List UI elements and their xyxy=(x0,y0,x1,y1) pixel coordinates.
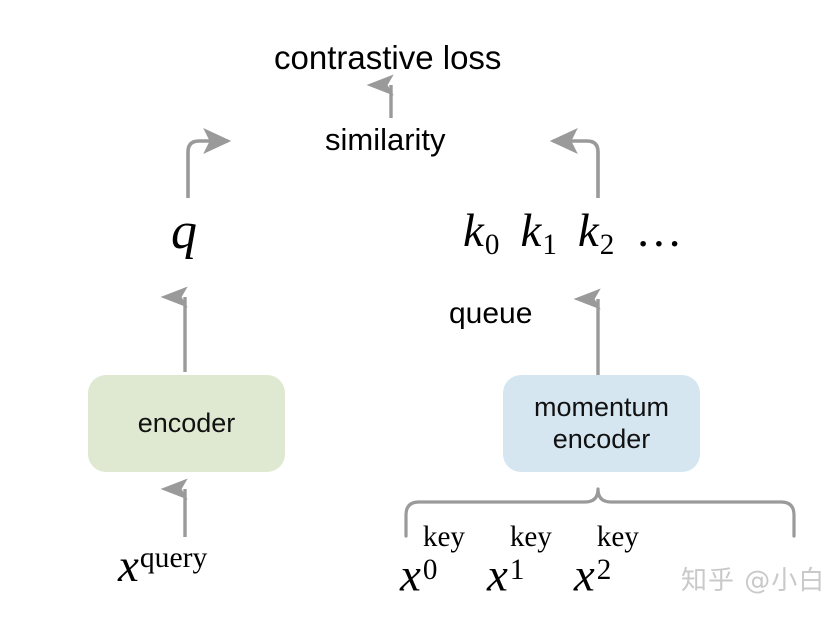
x-key-superscript-2: key xyxy=(597,524,639,552)
key-subscript-2: 2 xyxy=(600,229,615,261)
queue-label: queue xyxy=(449,299,532,329)
x-key-subscript-1: 1 xyxy=(510,557,552,585)
arrow-q-to-similarity xyxy=(188,141,228,198)
momentum-encoder-box-label-line1: momentum xyxy=(534,392,669,422)
arrow-keys-to-similarity xyxy=(553,141,598,198)
key-subscript-1: 1 xyxy=(542,229,557,261)
key-base-1: k xyxy=(520,205,541,257)
encoder-box-label: encoder xyxy=(138,408,236,440)
key-embedding-1: k1 xyxy=(520,206,556,260)
key-embeddings-ellipsis: … xyxy=(635,208,684,255)
x-key-base-1: x xyxy=(487,550,508,602)
similarity-label: similarity xyxy=(325,124,446,155)
x-key-scripts-1: key1 xyxy=(510,540,552,595)
x-key-symbol-2: xkey2 xyxy=(574,541,639,600)
x-key-base-0: x xyxy=(400,550,421,602)
x-query-base: x xyxy=(118,540,139,592)
key-embedding-2: k2 xyxy=(578,206,614,260)
x-key-superscript-0: key xyxy=(423,524,465,552)
x-key-superscript-1: key xyxy=(510,524,552,552)
momentum-encoder-box-label-wrapper: momentum encoder xyxy=(534,392,669,456)
contrastive-loss-label: contrastive loss xyxy=(274,41,501,74)
x-key-subscript-0: 0 xyxy=(423,557,465,585)
momentum-encoder-box[interactable]: momentum encoder xyxy=(503,375,700,472)
x-key-symbols-row: xkey0 xkey1 xkey2 xyxy=(400,541,639,600)
diagram-vector-layer xyxy=(0,0,826,634)
figure-canvas: contrastive loss similarity queue q k0 k… xyxy=(0,0,826,634)
x-key-symbol-0: xkey0 xyxy=(400,541,465,600)
key-base-2: k xyxy=(578,205,599,257)
query-embedding-symbol: q xyxy=(171,206,197,258)
key-base-0: k xyxy=(463,205,484,257)
x-key-symbol-1: xkey1 xyxy=(487,541,552,600)
key-embeddings-row: k0 k1 k2 … xyxy=(463,206,684,260)
x-key-scripts-2: key2 xyxy=(597,540,639,595)
x-query-superscript: query xyxy=(140,542,207,574)
x-key-subscript-2: 2 xyxy=(597,557,639,585)
x-key-base-2: x xyxy=(574,550,595,602)
watermark-text: 知乎 @小白 xyxy=(681,560,825,597)
x-key-scripts-0: key0 xyxy=(423,540,465,595)
key-subscript-0: 0 xyxy=(485,229,500,261)
key-embedding-0: k0 xyxy=(463,206,499,260)
encoder-box[interactable]: encoder xyxy=(88,375,285,472)
x-query-symbol: xquery xyxy=(118,541,207,590)
momentum-encoder-box-label-line2: encoder xyxy=(553,424,651,454)
